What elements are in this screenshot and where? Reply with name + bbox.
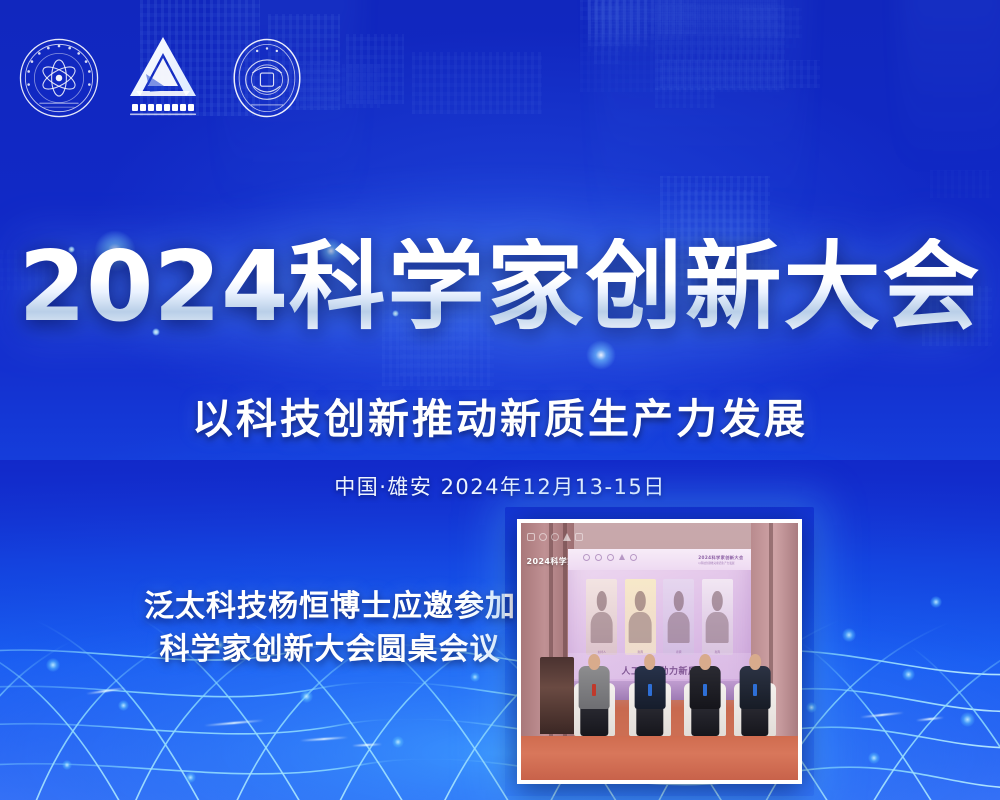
logo-wordmark — [126, 102, 200, 118]
page-title: 2024科学家创新大会 — [0, 238, 1000, 335]
headline-year: 2024 — [19, 230, 289, 343]
banner-icon-3 — [551, 533, 559, 541]
panelist — [629, 644, 671, 737]
mesh-node — [960, 712, 975, 727]
mesh-node — [392, 736, 404, 748]
caption-block: 泛太科技杨恒博士应邀参加 科学家创新大会圆桌会议 — [135, 586, 525, 671]
logo-row — [18, 34, 308, 122]
panelist-badge — [592, 684, 596, 696]
panelist-legs — [636, 705, 663, 736]
mesh-node — [902, 668, 915, 681]
screen-icon-1 — [583, 554, 590, 561]
light-streak — [860, 712, 904, 719]
panelist — [684, 644, 726, 737]
portrait-body — [629, 612, 652, 642]
mesh-node — [185, 772, 196, 783]
xiongan-seal-logo — [226, 37, 308, 119]
headline-text: 科学家创新大会 — [288, 230, 981, 343]
screen-icon-2 — [595, 554, 602, 561]
panelist-head — [589, 654, 601, 670]
portrait-body — [667, 612, 690, 642]
portrait-head — [596, 591, 606, 611]
caption-line-1: 泛太科技杨恒博士应邀参加 — [144, 589, 516, 624]
panelist-badge — [648, 684, 652, 696]
dateline: 中国·雄安 2024年12月13-15日 — [0, 471, 1000, 501]
banner-icon-triangle — [563, 533, 571, 541]
scientists-conference-logo — [126, 34, 200, 122]
panelist-head — [749, 654, 761, 670]
panelist — [574, 644, 616, 737]
mesh-node — [806, 702, 817, 713]
panelist-legs — [741, 705, 768, 736]
screen-icon-3 — [607, 554, 614, 561]
panelist-head — [644, 654, 656, 670]
mesh-node — [930, 596, 942, 608]
panelist-badge — [703, 684, 707, 696]
stage-banner-icons — [527, 533, 583, 541]
portrait-head — [635, 591, 645, 611]
portrait-head — [712, 591, 722, 611]
panelist-badge — [753, 684, 757, 696]
light-streak — [300, 736, 348, 741]
banner-icon-2 — [539, 533, 547, 541]
light-streak — [204, 719, 264, 726]
screen-icon-triangle — [619, 554, 625, 560]
panelist-head — [699, 654, 711, 670]
light-streak — [352, 743, 382, 747]
light-streak — [86, 687, 126, 695]
title-sparkle — [586, 340, 616, 370]
mesh-node — [62, 760, 72, 770]
mesh-node — [868, 752, 880, 764]
banner-icon-1 — [527, 533, 535, 541]
mesh-node — [470, 672, 480, 682]
cast-seal-logo — [18, 37, 100, 119]
screen-header-title: 2024科学家创新大会 以科技创新推动新质生产力发展 — [698, 555, 743, 565]
panelist-legs — [581, 705, 608, 736]
screen-header-title-text: 2024科学家创新大会 — [698, 555, 743, 560]
screen-header-icons — [583, 554, 637, 561]
mesh-node — [118, 700, 129, 711]
mesh-node — [46, 658, 60, 672]
mesh-node — [842, 628, 856, 642]
podium — [540, 657, 573, 734]
screen-header-subtitle: 以科技创新推动新质生产力发展 — [698, 561, 743, 565]
mesh-node — [300, 690, 313, 703]
portrait-body — [590, 612, 613, 642]
stage-floor — [521, 736, 798, 780]
screen-icon-5 — [630, 554, 637, 561]
conference-poster: 2024科学家创新大会 以科技创新推动新质生产力发展 中国·雄安 2024年12… — [0, 0, 1000, 800]
portrait-head — [674, 591, 684, 611]
light-streak — [916, 717, 944, 722]
caption-line-2: 科学家创新大会圆桌会议 — [135, 629, 525, 672]
portrait-body — [706, 612, 729, 642]
subtitle: 以科技创新推动新质生产力发展 — [0, 385, 1000, 445]
banner-icon-5 — [575, 533, 583, 541]
panelist — [734, 644, 776, 737]
roundtable-photo: 2024科学家创新大会 2024科学家创新大会 以科技创新推动新质生产力发展 — [517, 519, 802, 784]
panelist-legs — [691, 705, 718, 736]
